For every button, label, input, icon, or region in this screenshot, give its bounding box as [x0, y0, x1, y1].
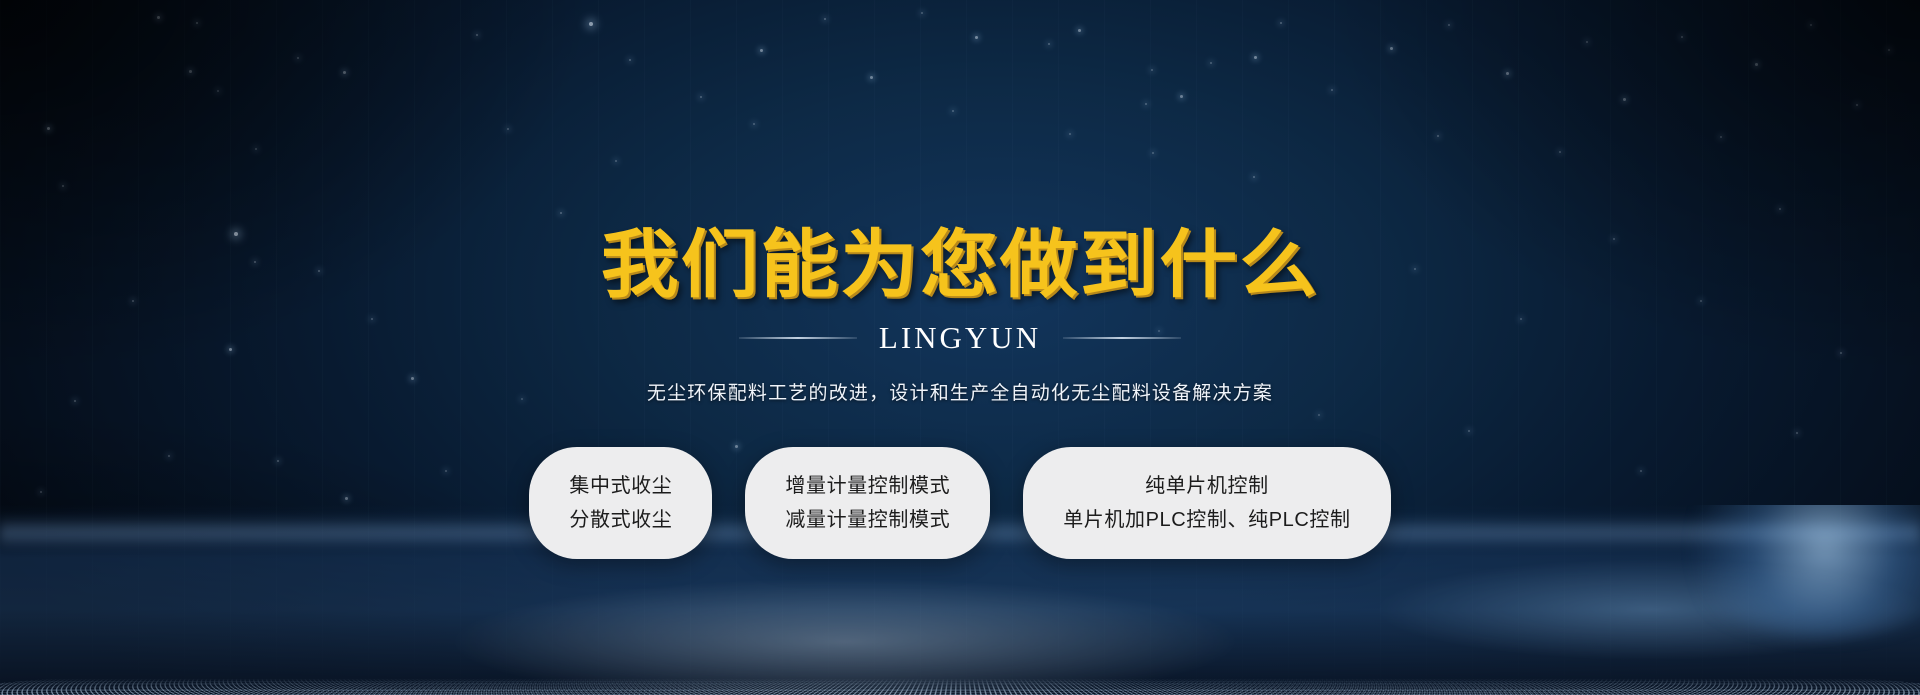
feature-card-dust-collection[interactable]: 集中式收尘 分散式收尘 — [529, 447, 712, 559]
divider-right — [1063, 337, 1181, 339]
brand-name: LINGYUN — [879, 320, 1041, 356]
feature-card-control-system[interactable]: 纯单片机控制 单片机加PLC控制、纯PLC控制 — [1023, 447, 1390, 559]
card-line-2: 减量计量控制模式 — [785, 510, 950, 530]
feature-card-list: 集中式收尘 分散式收尘 增量计量控制模式 减量计量控制模式 纯单片机控制 单片机… — [529, 447, 1390, 559]
card-line-1: 增量计量控制模式 — [785, 476, 950, 496]
tagline: 无尘环保配料工艺的改进，设计和生产全自动化无尘配料设备解决方案 — [647, 378, 1273, 405]
feature-card-metering-mode[interactable]: 增量计量控制模式 减量计量控制模式 — [745, 447, 990, 559]
card-line-2: 分散式收尘 — [569, 510, 672, 530]
card-line-1: 纯单片机控制 — [1145, 476, 1269, 496]
card-line-1: 集中式收尘 — [569, 476, 672, 496]
hero-banner: 我们能为您做到什么 LINGYUN 无尘环保配料工艺的改进，设计和生产全自动化无… — [0, 0, 1920, 695]
banner-content: 我们能为您做到什么 LINGYUN 无尘环保配料工艺的改进，设计和生产全自动化无… — [0, 0, 1920, 695]
divider-left — [739, 337, 857, 339]
brand-row: LINGYUN — [739, 320, 1181, 356]
page-title: 我们能为您做到什么 — [601, 228, 1319, 302]
card-line-2: 单片机加PLC控制、纯PLC控制 — [1063, 510, 1350, 530]
